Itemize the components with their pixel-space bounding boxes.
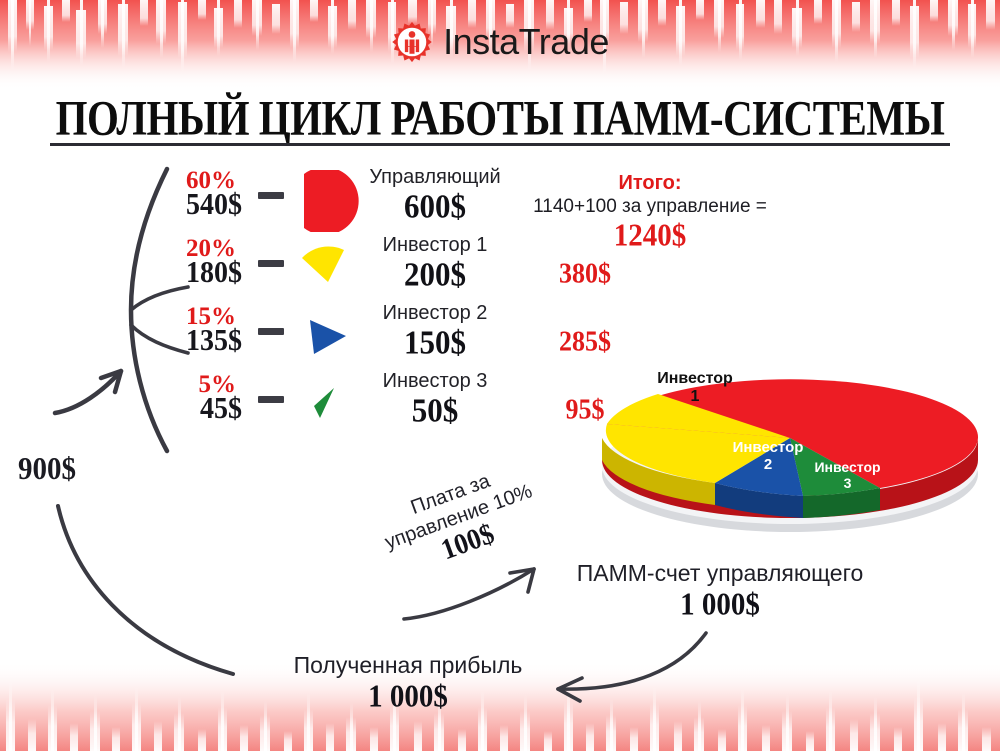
dash-icon [258, 192, 284, 199]
title-divider [50, 143, 950, 146]
pamm-account-value: 1 000$ [545, 586, 895, 624]
page-title: ПОЛНЫЙ ЦИКЛ РАБОТЫ ПАММ-СИСТЕМЫ [0, 88, 1000, 136]
profit-value: 1 000$ [243, 678, 573, 716]
dash-icon [258, 260, 284, 267]
row-party-name: Инвестор 2 [330, 302, 540, 324]
row-share-amount: 540$ [150, 190, 242, 220]
row-share-amount: 45$ [150, 394, 242, 424]
distribution-row: 15% 135$ Инвестор 2 150$ 285$ [150, 304, 590, 372]
totals-expression: 1140+100 за управление = [500, 195, 800, 220]
gear-person-icon [391, 21, 433, 63]
row-total: 380$ [510, 260, 660, 288]
row-share-amount: 135$ [150, 326, 242, 356]
pamm-pie-chart: Управляющий Инвестор 1 Инвестор 2 Инвест… [595, 288, 985, 538]
dash-icon [258, 328, 284, 335]
row-value: 50$ [330, 392, 540, 430]
row-share-amount: 180$ [150, 258, 242, 288]
brand-name: InstaTrade [443, 24, 609, 60]
totals-sum: 1240$ [500, 218, 800, 254]
profit-label: Полученная прибыль [243, 652, 573, 680]
page-title-text: ПОЛНЫЙ ЦИКЛ РАБОТЫ ПАММ-СИСТЕМЫ [0, 88, 1000, 147]
profit-block: Полученная прибыль 1 000$ [243, 652, 573, 714]
distribution-row: 5% 45$ Инвестор 3 50$ 95$ [150, 372, 590, 440]
row-party-name: Инвестор 3 [330, 370, 540, 392]
row-value: 150$ [330, 324, 540, 362]
pie-chart-svg [595, 288, 985, 538]
brand-name-part2: Trade [519, 21, 609, 62]
brand-logo: InstaTrade [0, 14, 1000, 70]
totals-label: Итого: [500, 172, 800, 195]
infographic-page: InstaTrade ПОЛНЫЙ ЦИКЛ РАБОТЫ ПАММ-СИСТЕ… [0, 0, 1000, 751]
pamm-account-block: ПАММ-счет управляющего 1 000$ [545, 560, 895, 622]
initial-capital-label: 900$ [18, 452, 76, 488]
totals-block: Итого: 1140+100 за управление = 1240$ [500, 172, 800, 253]
brand-name-part1: Insta [443, 21, 519, 62]
dash-icon [258, 396, 284, 403]
pamm-account-label: ПАММ-счет управляющего [545, 560, 895, 588]
row-value: 200$ [330, 256, 540, 294]
